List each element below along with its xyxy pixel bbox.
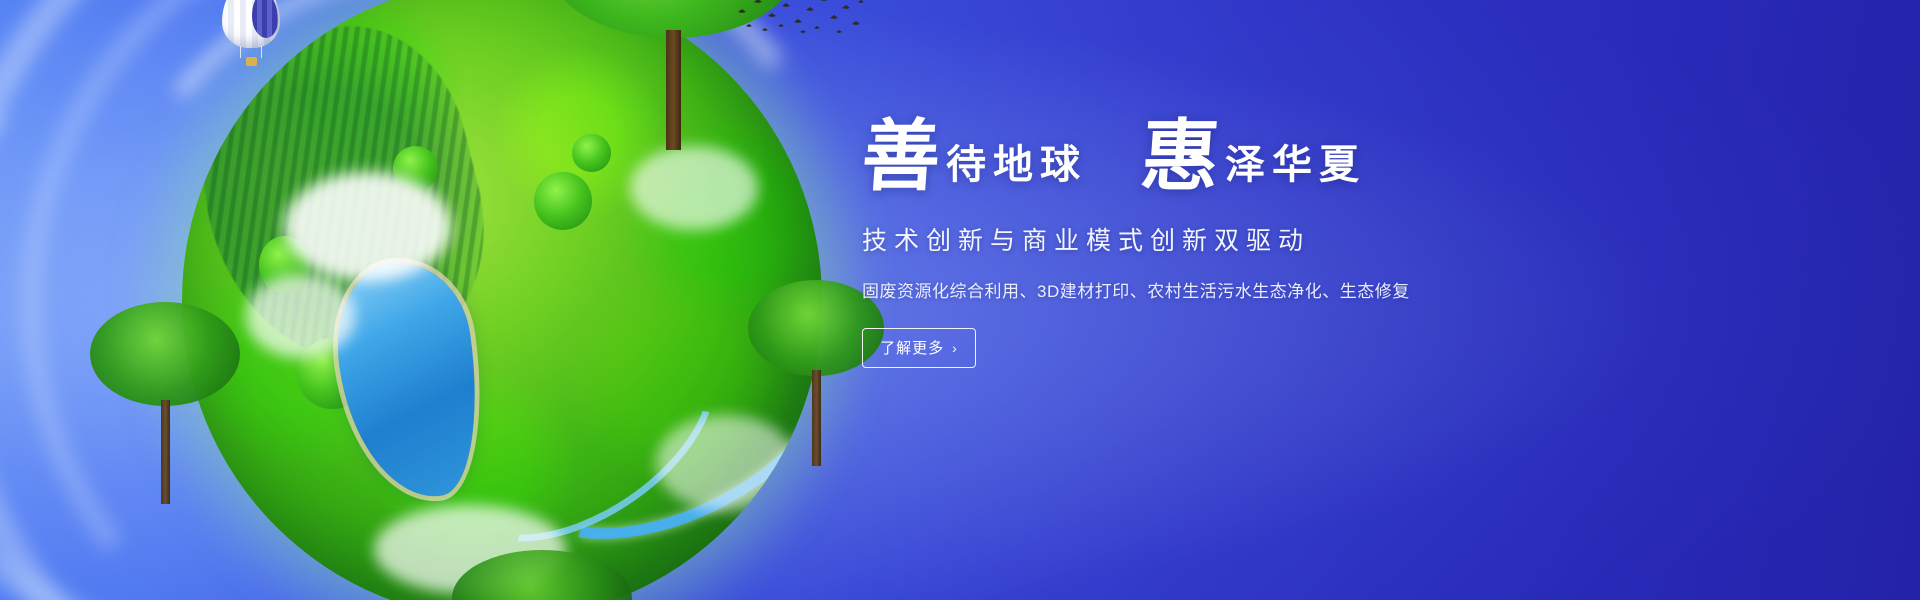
cloud-puff (284, 172, 450, 281)
shrub-cluster (534, 172, 592, 230)
bird-flock-icon (734, 0, 864, 40)
balloon-basket (246, 57, 257, 66)
headline-big-char-2: 惠 (1138, 120, 1221, 195)
tree-icon (90, 302, 240, 502)
hero-headline: 善 待地球 惠 泽华夏 (862, 120, 1622, 195)
chevron-right-icon: › (952, 340, 958, 356)
learn-more-label: 了解更多 (880, 337, 944, 358)
hero-subtitle: 技术创新与商业模式创新双驱动 (862, 221, 1622, 257)
tree-icon (452, 550, 632, 600)
balloon-ropes (240, 46, 262, 58)
hero-description: 固废资源化综合利用、3D建材打印、农村生活污水生态净化、生态修复 (862, 277, 1622, 302)
cloud-puff (630, 146, 758, 229)
cloud-puff (246, 274, 355, 357)
tree-trunk (666, 30, 681, 150)
hero-banner: 善 待地球 惠 泽华夏 技术创新与商业模式创新双驱动 固废资源化综合利用、3D建… (0, 0, 1920, 600)
tree-crown (452, 550, 632, 600)
balloon-envelope (222, 0, 280, 48)
tree-crown (90, 302, 240, 406)
headline-small-text-2: 泽华夏 (1225, 145, 1366, 195)
shrub-cluster (572, 134, 610, 172)
tree-trunk (812, 370, 821, 466)
headline-big-char-1: 善 (859, 120, 942, 195)
headline-small-text-1: 待地球 (946, 145, 1087, 195)
hot-air-balloon-icon (222, 0, 280, 70)
hero-copy-block: 善 待地球 惠 泽华夏 技术创新与商业模式创新双驱动 固废资源化综合利用、3D建… (862, 120, 1622, 368)
learn-more-button[interactable]: 了解更多 › (862, 328, 976, 368)
little-planet-artwork (152, 0, 852, 600)
tree-trunk (161, 400, 170, 504)
